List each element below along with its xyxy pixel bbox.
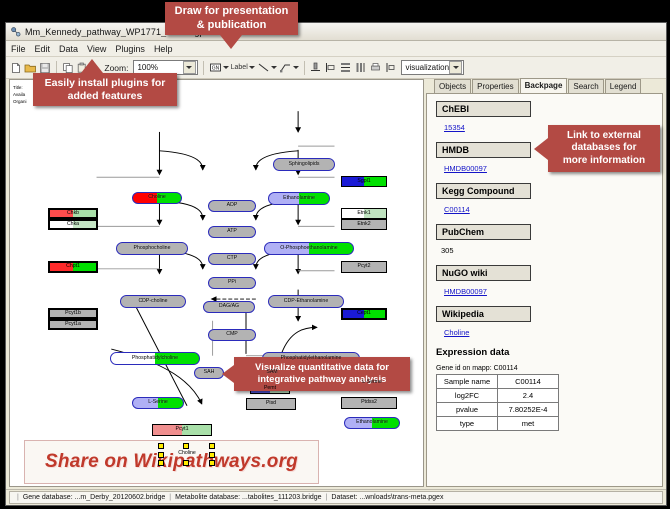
selection-handle[interactable] xyxy=(209,452,215,458)
table-row: Sample name C00114 xyxy=(437,375,559,389)
datanode-icon[interactable]: GN xyxy=(209,61,222,74)
callout-draw-text: Draw for presentation & publication xyxy=(175,5,289,32)
metabolite-node: DAG/AG xyxy=(203,301,255,313)
selection-handle[interactable] xyxy=(183,460,189,466)
metabolite-node: CTP xyxy=(208,253,256,265)
db-header-hmdb: HMDB xyxy=(436,142,531,158)
datanode-dropdown-icon[interactable] xyxy=(223,66,229,69)
selection-handle[interactable] xyxy=(158,460,164,466)
node-label: Etnk1 xyxy=(357,211,370,216)
node-label: Pcyt1b xyxy=(65,311,81,316)
metabolite-node: SAH xyxy=(194,367,224,379)
cell-val: C00114 xyxy=(498,375,559,389)
tab-legend[interactable]: Legend xyxy=(605,79,642,93)
callout-links-text: Link to external databases for more info… xyxy=(563,130,645,167)
pathvisio-icon xyxy=(10,26,21,37)
tab-objects[interactable]: Objects xyxy=(434,79,471,93)
cell-val: met xyxy=(498,417,559,431)
table-row: pvalue 7.80252E-4 xyxy=(437,403,559,417)
cell-val: 2.4 xyxy=(498,389,559,403)
callout-share-text: Share on Wikipathways.org xyxy=(45,451,298,473)
db-entry-pubchem: PubChem 305 xyxy=(436,224,662,258)
status-dataset: Dataset: ...wnloads\trans-meta.pgex xyxy=(331,494,443,501)
status-text: | Gene database: ...m_Derby_20120602.bri… xyxy=(9,491,663,504)
table-row: type met xyxy=(437,417,559,431)
callout-draw: Draw for presentation & publication xyxy=(165,2,298,35)
menu-bar[interactable]: File Edit Data View Plugins Help xyxy=(6,41,666,57)
node-label: Pcyt2 xyxy=(358,264,371,269)
menu-data[interactable]: Data xyxy=(59,44,78,54)
visualization-chevron-down-icon[interactable] xyxy=(449,61,462,74)
node-label: Sphingolipids xyxy=(289,162,320,167)
node-label: Chkb xyxy=(67,211,79,216)
metabolite-node: CDP-Ethanolamine xyxy=(268,295,344,308)
gene-node: Pcyt1 xyxy=(152,424,212,436)
gene-node: Chka xyxy=(48,219,98,230)
metabolite-node: ADP xyxy=(208,200,256,212)
selection-handle[interactable] xyxy=(158,443,164,449)
db-header-kegg: Kegg Compound xyxy=(436,183,531,199)
gene-node: Pisd xyxy=(246,398,296,410)
node-label: Choline xyxy=(178,451,196,456)
db-entry-wikipedia: Wikipedia Choline xyxy=(436,306,662,340)
node-label: L-Serine xyxy=(148,400,168,405)
pathway-info-availability: Availa xyxy=(13,92,25,97)
print-icon[interactable] xyxy=(369,60,382,75)
menu-view[interactable]: View xyxy=(87,44,106,54)
metabolite-node: Phosphatidylcholine xyxy=(110,352,200,365)
db-header-wikipedia: Wikipedia xyxy=(436,306,531,322)
metabolite-node: Ethanolamine xyxy=(268,192,330,205)
gene-node: Etnk2 xyxy=(341,219,387,230)
zoom-label: Zoom: xyxy=(104,63,128,73)
line-dropdown-icon[interactable] xyxy=(271,66,277,69)
db-link-kegg[interactable]: C00114 xyxy=(444,205,470,214)
node-label: Pisd xyxy=(266,401,276,406)
node-label: Chpt1 xyxy=(66,264,80,269)
node-label: Pcyt1a xyxy=(65,322,81,327)
metabolite-node: Choline xyxy=(132,192,182,204)
cell-val: 7.80252E-4 xyxy=(498,403,559,417)
callout-links-arrow-icon xyxy=(534,138,548,160)
node-label: Ethanolamine xyxy=(283,196,315,201)
node-label: SAM xyxy=(266,370,277,375)
db-header-nugo: NuGO wiki xyxy=(436,265,531,281)
gene-node: Pcyt1a xyxy=(48,319,98,330)
cell-key: pvalue xyxy=(437,403,498,417)
callout-plugins-arrow-icon xyxy=(81,59,103,73)
node-label: O-Phosphoethanolamine xyxy=(280,246,337,251)
callout-links: Link to external databases for more info… xyxy=(548,125,660,172)
gene-node: Chkb xyxy=(48,208,98,219)
group-icon[interactable] xyxy=(384,60,397,75)
gene-id-line: Gene id on mapp: C00114 xyxy=(436,365,662,372)
label-tool[interactable]: Label xyxy=(231,64,255,71)
node-label: DAG/AG xyxy=(219,304,239,309)
pathway-info-title: Title: xyxy=(13,85,23,90)
node-label: CTP xyxy=(227,256,237,261)
gene-node: Ptdss2 xyxy=(341,397,397,409)
metabolite-node: O-Phosphoethanolamine xyxy=(264,242,354,255)
node-label: Chka xyxy=(67,222,79,227)
line-icon[interactable] xyxy=(257,61,270,74)
callout-visualize: Visualize quantitative data for integrat… xyxy=(234,357,410,391)
pathway-canvas[interactable]: Title: Availa Organi xyxy=(9,79,424,487)
cell-key: type xyxy=(437,417,498,431)
table-row: log2FC 2.4 xyxy=(437,389,559,403)
node-label: Phosphatidylethanolamine xyxy=(281,356,342,361)
node-label: Etnk2 xyxy=(357,222,370,227)
visualization-value: visualization xyxy=(405,63,449,72)
chevron-down-icon[interactable] xyxy=(183,61,196,74)
align-top-icon[interactable] xyxy=(309,60,322,75)
distribute-horizontal-icon[interactable] xyxy=(354,60,367,75)
label-dropdown-icon[interactable] xyxy=(249,66,255,69)
new-file-icon[interactable] xyxy=(10,60,22,75)
db-entry-nugo: NuGO wiki HMDB00097 xyxy=(436,265,662,299)
node-label: CMP xyxy=(226,332,238,337)
db-link-wikipedia[interactable]: Choline xyxy=(444,328,469,337)
node-label: PPi xyxy=(228,280,236,285)
gene-node: Pcyt1b xyxy=(48,308,98,319)
zoom-value: 100% xyxy=(137,63,157,72)
title-bar: Mm_Kennedy_pathway_WP1771_45176.gpml xyxy=(6,23,666,41)
callout-plugins: Easily install plugins for added feature… xyxy=(33,73,177,106)
gene-node: Sgpl1 xyxy=(341,176,387,187)
node-label: Sgpl1 xyxy=(357,179,370,184)
screenshot-root: Mm_Kennedy_pathway_WP1771_45176.gpml Fil… xyxy=(0,0,670,509)
status-metabolite-database: Metabolite database: ...tabolites_111203… xyxy=(175,494,321,501)
menu-help[interactable]: Help xyxy=(154,44,173,54)
gene-node: Pcyt2 xyxy=(341,261,387,273)
callout-share: Share on Wikipathways.org xyxy=(24,440,319,484)
node-label: Pemt xyxy=(264,386,276,391)
metabolite-node: Phosphocholine xyxy=(116,242,188,255)
metabolite-node: Sphingolipids xyxy=(273,158,335,171)
interaction-icon[interactable] xyxy=(279,61,292,74)
selection-handle[interactable] xyxy=(209,460,215,466)
db-value-pubchem: 305 xyxy=(441,246,454,255)
pathway-info-organism: Organi xyxy=(13,99,27,104)
align-left-icon[interactable] xyxy=(324,60,337,75)
visualization-combo[interactable]: visualization xyxy=(401,60,464,75)
interaction-tool[interactable] xyxy=(279,61,299,74)
metabolite-node: Ethanolamine xyxy=(344,417,400,429)
db-link-chebi[interactable]: 15354 xyxy=(444,123,465,132)
gene-node: Etnk1 xyxy=(341,208,387,219)
menu-plugins[interactable]: Plugins xyxy=(115,44,145,54)
selection-handle[interactable] xyxy=(158,452,164,458)
line-tool[interactable] xyxy=(257,61,277,74)
selection-handle[interactable] xyxy=(209,443,215,449)
gene-node: Cept1 xyxy=(341,308,387,320)
db-entry-kegg: Kegg Compound C00114 xyxy=(436,183,662,217)
interaction-dropdown-icon[interactable] xyxy=(293,66,299,69)
node-label: Ethanolamine xyxy=(356,420,388,425)
node-label: CDP-choline xyxy=(138,299,167,304)
toolbar-separator-4 xyxy=(304,61,305,75)
cell-key: Sample name xyxy=(437,375,498,389)
node-label: Cept1 xyxy=(357,311,371,316)
tab-search[interactable]: Search xyxy=(568,79,603,93)
status-gene-database: Gene database: ...m_Derby_20120602.bridg… xyxy=(23,494,165,501)
gene-node: Chpt1 xyxy=(48,261,98,273)
cell-key: log2FC xyxy=(437,389,498,403)
node-label: L-Serine xyxy=(362,380,382,385)
node-label: Phosphocholine xyxy=(134,246,171,251)
db-header-pubchem: PubChem xyxy=(436,224,531,240)
node-label: ATP xyxy=(227,229,237,234)
datanode-tool[interactable]: GN xyxy=(209,61,229,74)
label-button-text[interactable]: Label xyxy=(231,64,248,71)
tab-backpage[interactable]: Backpage xyxy=(520,78,568,93)
node-label: Choline xyxy=(148,195,166,200)
metabolite-node: PPi xyxy=(208,277,256,289)
selection-handle[interactable] xyxy=(183,443,189,449)
metabolite-node: ATP xyxy=(208,226,256,238)
node-label: Ptdss2 xyxy=(361,400,377,405)
callout-visualize-arrow-icon xyxy=(222,365,234,383)
node-label: Phosphatidylcholine xyxy=(132,356,178,361)
expression-data-table: Sample name C00114 log2FC 2.4 pvalue 7.8… xyxy=(436,374,559,431)
callout-plugins-text: Easily install plugins for added feature… xyxy=(45,77,166,103)
side-panel-tabs[interactable]: Objects Properties Backpage Search Legen… xyxy=(426,79,663,93)
db-link-hmdb[interactable]: HMDB00097 xyxy=(444,164,487,173)
status-bar: | Gene database: ...m_Derby_20120602.bri… xyxy=(6,489,666,505)
distribute-vertical-icon[interactable] xyxy=(339,60,352,75)
node-label: SAH xyxy=(204,370,215,375)
expression-data-title: Expression data xyxy=(436,347,662,358)
node-label: ADP xyxy=(227,203,238,208)
metabolite-node: L-Serine xyxy=(132,397,184,409)
menu-edit[interactable]: Edit xyxy=(35,44,51,54)
node-label: Pcyt1 xyxy=(176,427,189,432)
toolbar-separator-3 xyxy=(203,61,204,75)
db-header-chebi: ChEBI xyxy=(436,101,531,117)
menu-file[interactable]: File xyxy=(11,44,26,54)
metabolite-node: CDP-choline xyxy=(120,295,186,308)
db-link-nugo[interactable]: HMDB00097 xyxy=(444,287,487,296)
node-label: CDP-Ethanolamine xyxy=(284,299,328,304)
svg-text:GN: GN xyxy=(211,65,219,71)
callout-draw-arrow-icon xyxy=(220,35,242,49)
tab-properties[interactable]: Properties xyxy=(472,79,518,93)
metabolite-node: CMP xyxy=(208,329,256,341)
